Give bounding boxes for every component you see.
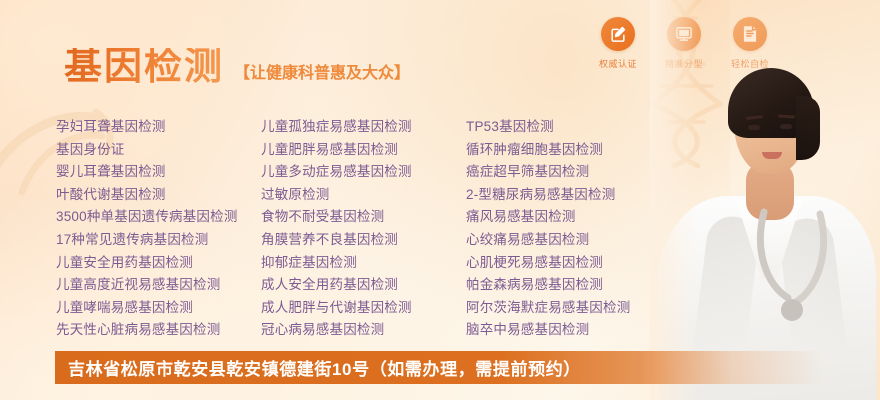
service-item[interactable]: 儿童哮喘易感基因检测 [56, 297, 261, 320]
feature-badge-easy-self-check[interactable]: 轻松自检 [724, 17, 776, 70]
doctor-eyebrow-right [778, 114, 795, 118]
doctor-mouth [762, 152, 782, 159]
stethoscope-icon [716, 206, 866, 366]
service-item[interactable]: 循环肿瘤细胞基因检测 [466, 139, 676, 162]
doctor-face [734, 78, 808, 174]
doctor-hair [728, 68, 814, 138]
service-column-1: 孕妇耳聋基因检测 基因身份证 婴儿耳聋基因检测 叶酸代谢基因检测 3500种单基… [56, 116, 261, 342]
edit-square-icon [601, 17, 635, 51]
service-item[interactable]: 婴儿耳聋基因检测 [56, 161, 261, 184]
doctor-eye-left [748, 125, 760, 130]
feature-badge-authority-certified[interactable]: 权威认证 [592, 17, 644, 70]
service-item[interactable]: 孕妇耳聋基因检测 [56, 116, 261, 139]
service-item[interactable]: 儿童多动症易感基因检测 [261, 161, 466, 184]
gene-testing-promo-banner: 基因检测 【让健康科普惠及大众】 权威认证 精准分型 [0, 0, 880, 400]
doctor-eye-right [780, 124, 792, 129]
service-item[interactable]: 角膜营养不良基因检测 [261, 229, 466, 252]
feature-badge-label: 精准分型 [665, 57, 703, 70]
feature-badge-label: 轻松自检 [731, 57, 769, 70]
service-item[interactable]: 帕金森病易感基因检测 [466, 274, 676, 297]
doctor-eyebrow-left [746, 115, 763, 120]
address-bar: 吉林省松原市乾安县乾安镇德建街10号（如需办理，需提前预约） [55, 351, 825, 384]
service-item[interactable]: 阿尔茨海默症易感基因检测 [466, 297, 676, 320]
service-item[interactable]: 儿童孤独症易感基因检测 [261, 116, 466, 139]
service-item[interactable]: 2-型糖尿病易感基因检测 [466, 184, 676, 207]
service-item[interactable]: 心肌梗死易感基因检测 [466, 252, 676, 275]
page-title: 基因检测 [64, 48, 224, 86]
service-item[interactable]: TP53基因检测 [466, 116, 676, 139]
service-item[interactable]: 基因身份证 [56, 139, 261, 162]
doctor-hair-side [796, 96, 820, 160]
feature-badge-label: 权威认证 [599, 57, 637, 70]
feature-badge-precise-typing[interactable]: 精准分型 [658, 17, 710, 70]
service-item[interactable]: 食物不耐受基因检测 [261, 206, 466, 229]
service-item[interactable]: 叶酸代谢基因检测 [56, 184, 261, 207]
headline-block: 基因检测 【让健康科普惠及大众】 [64, 48, 410, 86]
service-column-3: TP53基因检测 循环肿瘤细胞基因检测 癌症超早筛基因检测 2-型糖尿病易感基因… [466, 116, 676, 342]
service-item[interactable]: 抑郁症基因检测 [261, 252, 466, 275]
service-column-2: 儿童孤独症易感基因检测 儿童肥胖易感基因检测 儿童多动症易感基因检测 过敏原检测… [261, 116, 466, 342]
service-item[interactable]: 先天性心脏病易感基因检测 [56, 319, 261, 342]
document-report-icon [733, 17, 767, 51]
service-list: 孕妇耳聋基因检测 基因身份证 婴儿耳聋基因检测 叶酸代谢基因检测 3500种单基… [56, 116, 676, 342]
service-item[interactable]: 成人安全用药基因检测 [261, 274, 466, 297]
service-item[interactable]: 过敏原检测 [261, 184, 466, 207]
service-item[interactable]: 心绞痛易感基因检测 [466, 229, 676, 252]
service-item[interactable]: 成人肥胖与代谢基因检测 [261, 297, 466, 320]
service-item[interactable]: 儿童安全用药基因检测 [56, 252, 261, 275]
doctor-neck [746, 162, 794, 220]
service-item[interactable]: 癌症超早筛基因检测 [466, 161, 676, 184]
service-item[interactable]: 儿童肥胖易感基因检测 [261, 139, 466, 162]
service-item[interactable]: 17种常见遗传病基因检测 [56, 229, 261, 252]
service-item[interactable]: 痛风易感基因检测 [466, 206, 676, 229]
address-text: 吉林省松原市乾安县乾安镇德建街10号（如需办理，需提前预约） [55, 355, 581, 380]
monitor-icon [667, 17, 701, 51]
page-subtitle: 【让健康科普惠及大众】 [234, 59, 410, 86]
service-item[interactable]: 冠心病易感基因检测 [261, 319, 466, 342]
service-item[interactable]: 3500种单基因遗传病基因检测 [56, 206, 261, 229]
service-item[interactable]: 脑卒中易感基因检测 [466, 319, 676, 342]
feature-badge-group: 权威认证 精准分型 [592, 17, 776, 70]
service-item[interactable]: 儿童高度近视易感基因检测 [56, 274, 261, 297]
doctor-shirt-collar [736, 200, 802, 278]
